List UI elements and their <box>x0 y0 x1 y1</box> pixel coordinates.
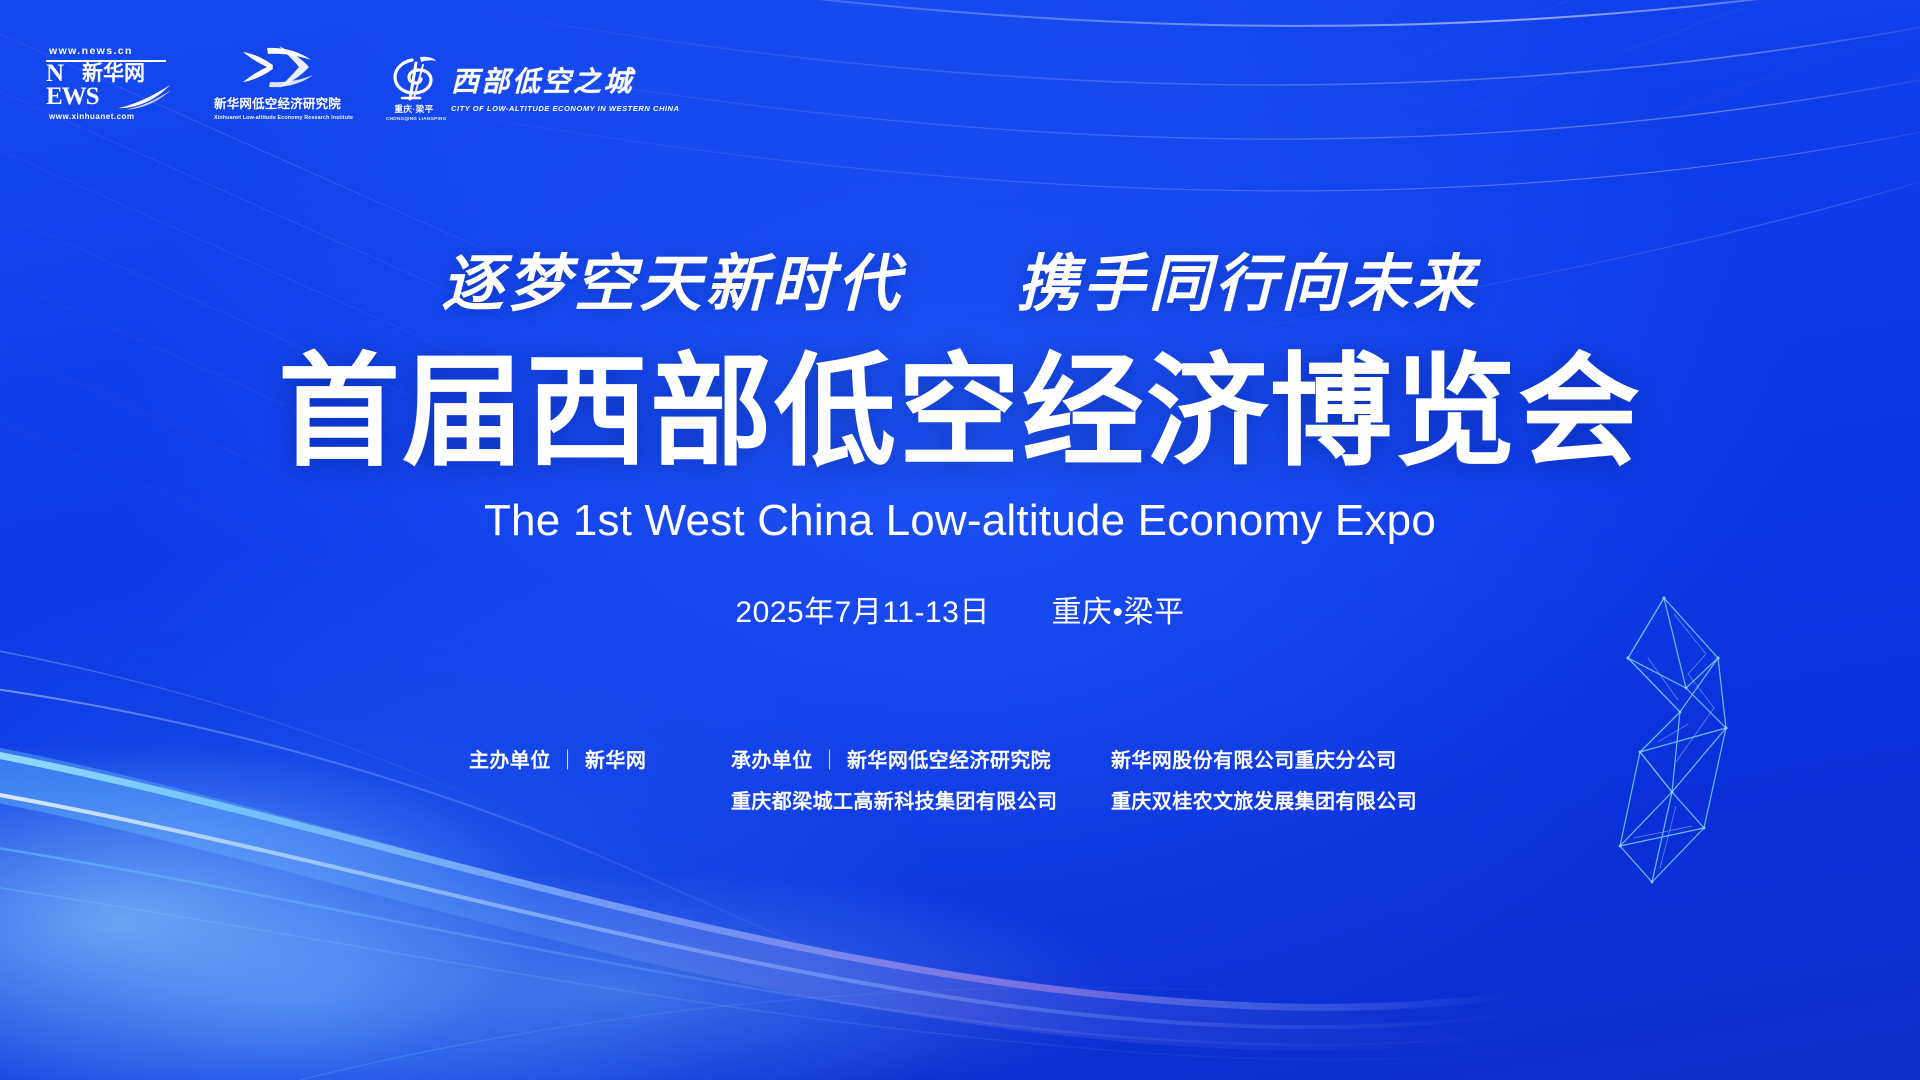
cohost-column: 承办单位｜新华网低空经济研究院 重庆都梁城工高新科技集团有限公司 <box>731 744 1111 814</box>
logo-city-low-altitude[interactable]: 重庆·梁平 CHONGQING LIANGPING 西部低空之城 CITY OF… <box>386 55 680 122</box>
city-locality-en: CHONGQING LIANGPING <box>386 116 442 121</box>
institute-pinwheel-icon <box>237 44 315 90</box>
city-emblem-glyph <box>386 55 442 101</box>
participant-line-1: 新华网股份有限公司重庆分公司 <box>1111 744 1451 773</box>
date-location-line: 2025年7月11-13日 重庆•梁平 <box>0 587 1920 631</box>
banner-canvas: www.news.cn N EWS 新华网 www.xinhuanet.com <box>0 0 1920 1080</box>
xinhua-name-cn: 新华网 <box>82 63 145 84</box>
logo-low-altitude-research-institute[interactable]: 新华网低空经济研究院 Xinhuanet Low-altitude Econom… <box>214 44 338 121</box>
city-wordmark: 西部低空之城 CITY OF LOW-ALTITUDE ECONOMY IN W… <box>451 60 680 115</box>
cohost-value: 新华网低空经济研究院 <box>847 750 1051 772</box>
slogan: 逐梦空天新时代 携手同行向未来 <box>0 253 1920 315</box>
city-name-cn: 西部低空之城 <box>451 60 680 100</box>
city-swirl-plane-icon <box>390 55 438 101</box>
light-ribbon-decoration <box>0 620 1920 1080</box>
host-separator: ｜ <box>551 750 585 772</box>
city-emblem: 重庆·梁平 CHONGQING LIANGPING <box>386 55 442 122</box>
city-name-en: CITY OF LOW-ALTITUDE ECONOMY IN WESTERN … <box>451 104 680 113</box>
slogan-right: 携手同行向未来 <box>1017 247 1479 320</box>
organizers-row-1: 主办单位｜新华网 承办单位｜新华网低空经济研究院 重庆都梁城工高新科技集团有限公… <box>0 744 1920 814</box>
cohost-line-2: 重庆都梁城工高新科技集团有限公司 <box>731 785 1111 814</box>
cohost-label: 承办单位 <box>731 750 813 772</box>
organizers-block: 主办单位｜新华网 承办单位｜新华网低空经济研究院 重庆都梁城工高新科技集团有限公… <box>0 744 1920 814</box>
event-location: 重庆•梁平 <box>1052 596 1185 629</box>
xinhua-wordmark-ews: EWS <box>46 85 99 108</box>
logo-bar: www.news.cn N EWS 新华网 www.xinhuanet.com <box>46 44 680 121</box>
xinhua-url-bottom: www.xinhuanet.com <box>46 112 166 121</box>
host-value: 新华网 <box>585 750 646 772</box>
subtitle-english: The 1st West China Low-altitude Economy … <box>0 499 1920 543</box>
host-label: 主办单位 <box>469 750 551 772</box>
xinhua-wordmark-group: N EWS 新华网 <box>46 63 166 111</box>
institute-name-cn: 新华网低空经济研究院 <box>214 93 338 112</box>
participant-line-2: 重庆双桂农文旅发展集团有限公司 <box>1111 785 1451 814</box>
host-column: 主办单位｜新华网 <box>469 744 731 773</box>
slogan-left: 逐梦空天新时代 <box>441 247 903 320</box>
xinhua-swoosh-icon <box>116 84 172 110</box>
institute-name-en: Xinhuanet Low-altitude Economy Research … <box>214 115 338 121</box>
wireframe-drone-decoration <box>1568 592 1808 892</box>
cohost-separator: ｜ <box>813 750 847 772</box>
logo-xinhua-news[interactable]: www.news.cn N EWS 新华网 www.xinhuanet.com <box>46 46 166 121</box>
institute-mark <box>214 44 338 90</box>
event-date: 2025年7月11-13日 <box>735 596 989 629</box>
xinhua-url-top: www.news.cn <box>46 46 166 58</box>
city-locality-cn: 重庆·梁平 <box>386 103 442 115</box>
cohost-line-1: 承办单位｜新华网低空经济研究院 <box>731 744 1111 773</box>
page-title: 首届西部低空经济博览会 <box>0 351 1920 473</box>
participants-column: 新华网股份有限公司重庆分公司 重庆双桂农文旅发展集团有限公司 <box>1111 744 1451 814</box>
